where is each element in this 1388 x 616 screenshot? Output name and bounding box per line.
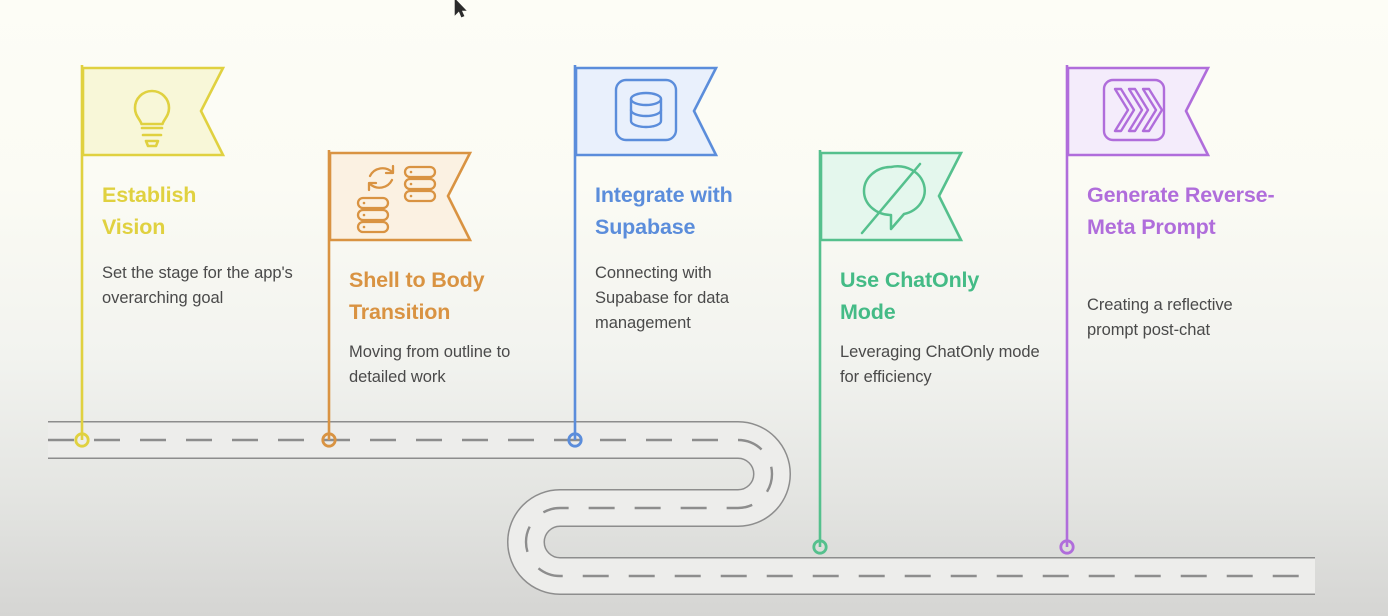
milestone-shell-to-body-transition[interactable]: Shell to Body Transition Moving from out…	[322, 150, 474, 246]
title-wrap-generate-reverse-meta-prompt: Generate Reverse-Meta Prompt	[1087, 179, 1277, 244]
milestone-description: Creating a reflective prompt post-chat	[1087, 293, 1287, 343]
flag-integrate-with-supabase	[568, 65, 720, 161]
flag-generate-reverse-meta-prompt	[1060, 65, 1212, 161]
title-wrap-use-chatonly-mode: Use ChatOnly Mode	[840, 264, 1020, 329]
flag-use-chatonly-mode	[813, 150, 965, 246]
milestone-description: Leveraging ChatOnly mode for efficiency	[840, 340, 1040, 390]
desc-wrap-establish-vision: Set the stage for the app's overarching …	[102, 261, 297, 311]
flag-shell-to-body-transition	[322, 150, 474, 246]
milestone-title: Integrate with Supabase	[595, 179, 780, 244]
flag-shape	[330, 153, 470, 240]
desc-wrap-integrate-with-supabase: Connecting with Supabase for data manage…	[595, 261, 780, 337]
milestone-description: Moving from outline to detailed work	[349, 340, 544, 390]
milestone-title: Establish Vision	[102, 179, 262, 244]
milestone-title: Use ChatOnly Mode	[840, 264, 1020, 329]
roadmap-canvas: Establish Vision Set the stage for the a…	[0, 0, 1388, 616]
flag-establish-vision	[75, 65, 227, 161]
milestone-title: Shell to Body Transition	[349, 264, 534, 329]
desc-wrap-use-chatonly-mode: Leveraging ChatOnly mode for efficiency	[840, 340, 1040, 390]
milestone-title: Generate Reverse-Meta Prompt	[1087, 179, 1277, 244]
milestone-description: Set the stage for the app's overarching …	[102, 261, 297, 311]
title-wrap-integrate-with-supabase: Integrate with Supabase	[595, 179, 780, 244]
desc-wrap-generate-reverse-meta-prompt: Creating a reflective prompt post-chat	[1087, 293, 1287, 343]
milestone-integrate-with-supabase[interactable]: Integrate with Supabase Connecting with …	[568, 65, 720, 161]
milestone-use-chatonly-mode[interactable]: Use ChatOnly Mode Leveraging ChatOnly mo…	[813, 150, 965, 246]
milestone-generate-reverse-meta-prompt[interactable]: Generate Reverse-Meta Prompt Creating a …	[1060, 65, 1212, 161]
milestone-establish-vision[interactable]: Establish Vision Set the stage for the a…	[75, 65, 227, 161]
title-wrap-establish-vision: Establish Vision	[102, 179, 262, 244]
title-wrap-shell-to-body-transition: Shell to Body Transition	[349, 264, 534, 329]
desc-wrap-shell-to-body-transition: Moving from outline to detailed work	[349, 340, 544, 390]
milestone-description: Connecting with Supabase for data manage…	[595, 261, 780, 337]
